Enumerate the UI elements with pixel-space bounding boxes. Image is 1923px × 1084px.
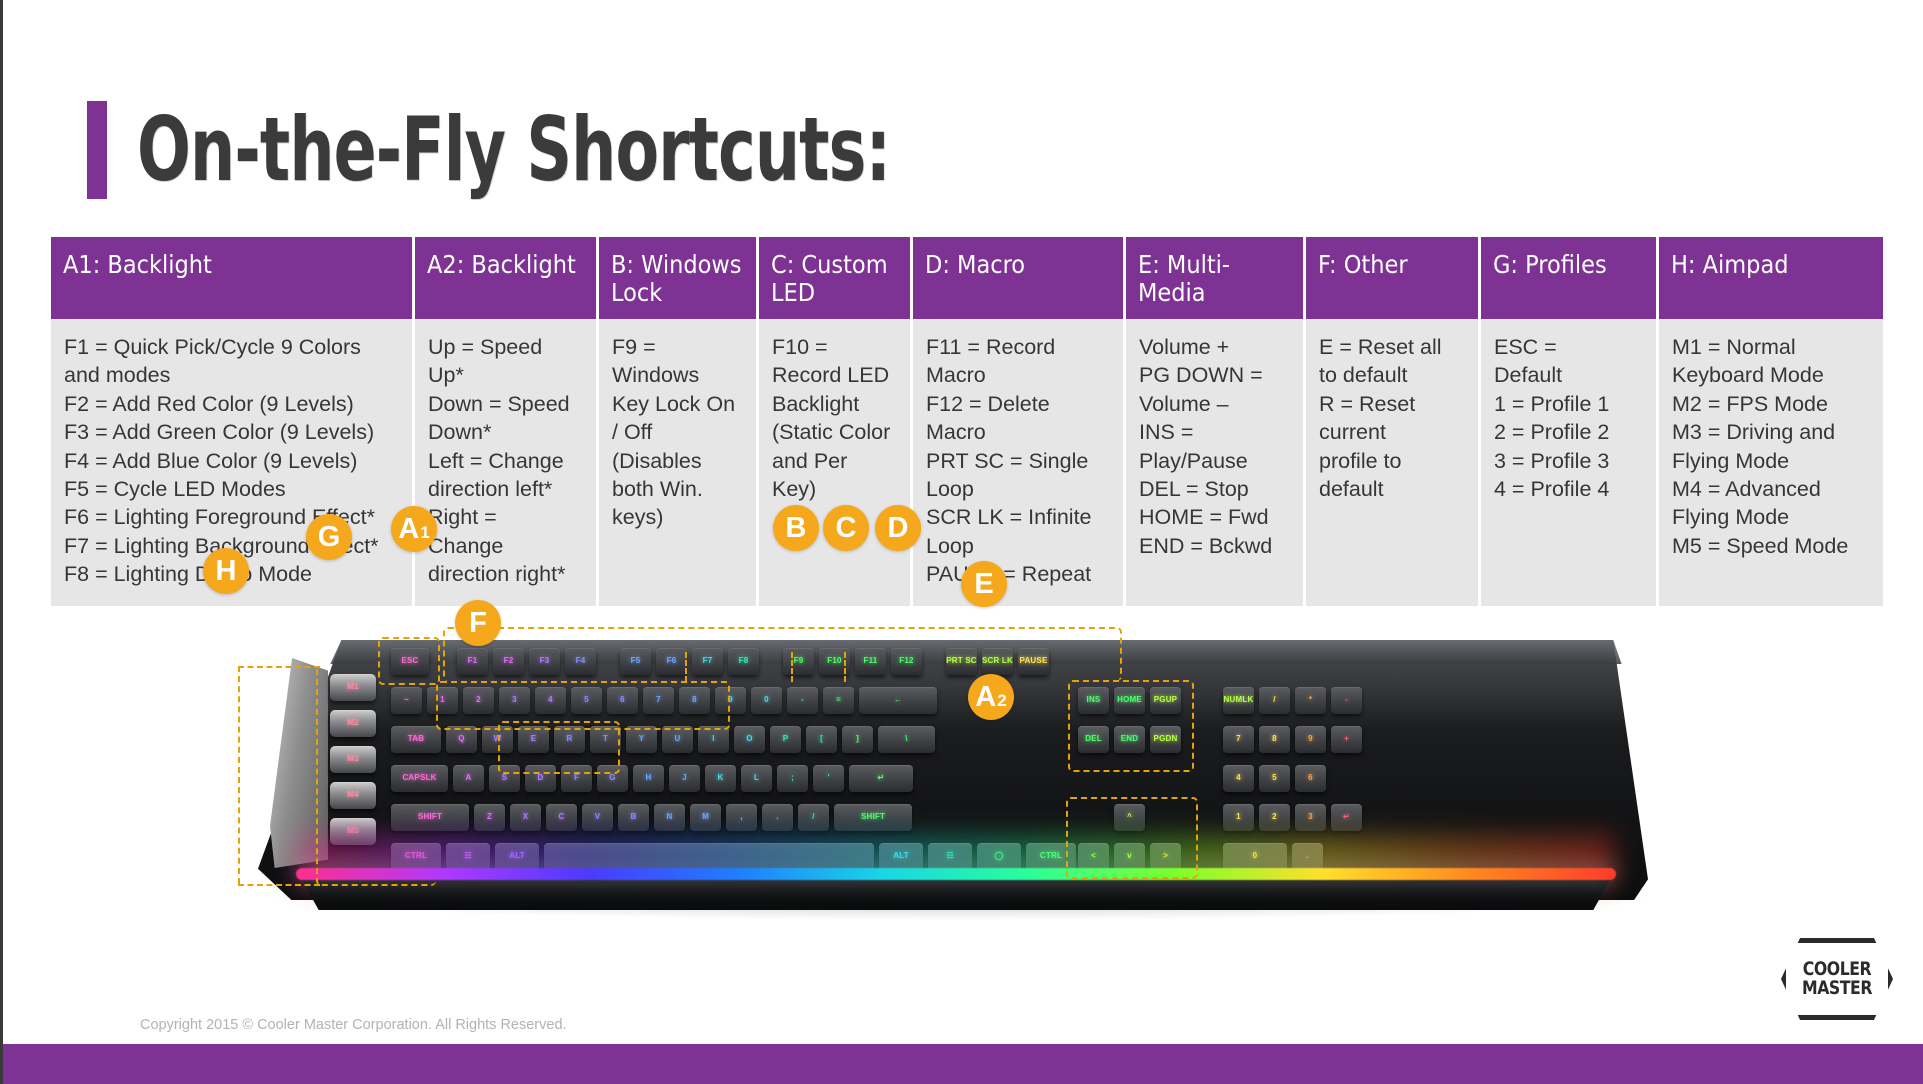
page-title: On-the-Fly Shortcuts: [137,98,890,201]
numpad-row-3: 1 2 3 ↵ [1223,804,1362,831]
badge-f[interactable]: F [455,600,501,646]
table-cell-line: (Disables [612,447,743,475]
key-g[interactable]: G [597,765,628,792]
key-f[interactable]: F [561,765,592,792]
table-cell-line: current [1319,418,1465,446]
logo-line-2: MASTER [1802,979,1872,998]
key-v[interactable]: V [582,804,613,831]
table-cell-line: M4 = Advanced [1672,475,1870,503]
table-cell-line: F10 = [772,333,897,361]
table-cell-line: and modes [64,361,399,389]
table-cell-line: 4 = Profile 4 [1494,475,1643,503]
callout-line-h [238,666,320,668]
table-header-d: D: Macro [913,237,1126,319]
key-f11[interactable]: F11 [855,648,886,675]
key-pgdn[interactable]: PGDN [1150,726,1181,753]
table-cell-line: Up* [428,361,583,389]
qwerty-key-row: TAB Q W E R T Y U I O P [ ] \ [391,726,935,753]
page-title-row: On-the-Fly Shortcuts: [87,98,1078,201]
key-f1[interactable]: F1 [457,648,488,675]
badge-h-label: H [216,548,237,594]
key-left-shift[interactable]: SHIFT [391,804,469,831]
badge-d[interactable]: D [875,505,921,551]
table-cell-line: F4 = Add Blue Color (9 Levels) [64,447,399,475]
badge-a2-sub: 2 [997,678,1006,724]
key-n[interactable]: N [654,804,685,831]
callout-line-b [685,652,687,682]
table-cell-line: Default [1494,361,1643,389]
number-key-row: ~ 1 2 3 4 5 6 7 8 9 0 - = ← [391,687,937,714]
badge-e-label: E [974,561,993,607]
table-cell-line: SCR LK = Infinite [926,503,1110,531]
table-body-row: F1 = Quick Pick/Cycle 9 Colorsand modesF… [51,319,1883,606]
table-header-a1: A1: Backlight [51,237,415,319]
key-4[interactable]: 4 [535,687,566,714]
key-np-minus[interactable]: - [1331,687,1362,714]
key-quote[interactable]: ' [813,765,844,792]
key-q[interactable]: Q [446,726,477,753]
badge-a2-label: A [975,674,996,720]
table-cell-line: F5 = Cycle LED Modes [64,475,399,503]
key-lbracket[interactable]: [ [806,726,837,753]
key-f5[interactable]: F5 [620,648,651,675]
table-cell-line: END = Bckwd [1139,532,1290,560]
table-cell-line: direction left* [428,475,583,503]
table-cell-line: default [1319,475,1465,503]
key-7[interactable]: 7 [643,687,674,714]
nav-cluster-row-1: INS HOME PGUP [1078,687,1181,714]
key-semicolon[interactable]: ; [777,765,808,792]
table-cell-line: F11 = Record [926,333,1110,361]
key-np-5[interactable]: 5 [1259,765,1290,792]
key-b[interactable]: B [618,804,649,831]
key-np-2[interactable]: 2 [1259,804,1290,831]
key-m2[interactable]: M2 [330,710,376,737]
key-np-9[interactable]: 9 [1295,726,1326,753]
key-arrow-up[interactable]: ^ [1114,804,1145,831]
table-cell-line: Right = [428,503,583,531]
key-f12[interactable]: F12 [891,648,922,675]
callout-line-h-bottom [238,884,320,886]
table-cell-line: PAUSE = Repeat [926,560,1110,588]
key-home[interactable]: HOME [1114,687,1145,714]
badge-a1-label: A [398,506,419,552]
callout-line-c [791,652,793,682]
key-backslash[interactable]: \ [878,726,935,753]
callout-line-d [844,652,846,682]
key-esc[interactable]: ESC [391,648,429,675]
key-period[interactable]: . [762,804,793,831]
table-cell-line: profile to [1319,447,1465,475]
table-cell-line: 3 = Profile 3 [1494,447,1643,475]
table-cell-line: 1 = Profile 1 [1494,390,1643,418]
table-cell-line: Left = Change [428,447,583,475]
table-cell-line: F9 = [612,333,743,361]
key-right-shift[interactable]: SHIFT [834,804,912,831]
key-f9[interactable]: F9 [783,648,814,675]
function-key-row: ESC F1 F2 F3 F4 F5 F6 F7 F8 F9 F10 F11 F… [391,648,1049,675]
table-cell-line: to default [1319,361,1465,389]
table-cell-line: F12 = Delete [926,390,1110,418]
table-cell-c: F10 =Record LEDBacklight(Static Colorand… [759,319,913,606]
key-np-6[interactable]: 6 [1295,765,1326,792]
badge-d-label: D [888,505,909,551]
badge-b[interactable]: B [773,505,819,551]
badge-b-label: B [786,505,807,551]
table-header-b: B: Windows Lock [599,237,759,319]
table-cell-line: Play/Pause [1139,447,1290,475]
nav-cluster-row-2: DEL END PGDN [1078,726,1181,753]
badge-a1-sub: 1 [420,510,429,556]
key-6[interactable]: 6 [607,687,638,714]
badge-g-label: G [318,514,341,560]
key-pause[interactable]: PAUSE [1018,648,1049,675]
table-cell-line: Macro [926,361,1110,389]
table-cell-line: 2 = Profile 2 [1494,418,1643,446]
key-np-multiply[interactable]: * [1295,687,1326,714]
table-cell-line: Loop [926,475,1110,503]
key-l[interactable]: L [741,765,772,792]
table-cell-line: DEL = Stop [1139,475,1290,503]
key-2[interactable]: 2 [463,687,494,714]
key-0[interactable]: 0 [751,687,782,714]
table-cell-line: HOME = Fwd [1139,503,1290,531]
table-cell-line: M1 = Normal [1672,333,1870,361]
key-prt-sc[interactable]: PRT SC [946,648,977,675]
key-ins[interactable]: INS [1078,687,1109,714]
key-r[interactable]: R [554,726,585,753]
key-9[interactable]: 9 [715,687,746,714]
slide-root: On-the-Fly Shortcuts: A1: Backlight A2: … [3,0,1923,1084]
table-cell-line: Down = Speed [428,390,583,418]
table-cell-line: Backlight [772,390,897,418]
table-cell-line: Flying Mode [1672,503,1870,531]
key-f4[interactable]: F4 [565,648,596,675]
table-cell-line: R = Reset [1319,390,1465,418]
key-equals[interactable]: = [823,687,854,714]
table-cell-line: Flying Mode [1672,447,1870,475]
table-header-row: A1: Backlight A2: Backlight B: Windows L… [51,237,1883,319]
key-slash[interactable]: / [798,804,829,831]
badge-e[interactable]: E [961,561,1007,607]
table-cell-b: F9 =WindowsKey Lock On/ Off(Disablesboth… [599,319,759,606]
table-cell-line: direction right* [428,560,583,588]
key-end[interactable]: END [1114,726,1145,753]
key-enter[interactable]: ↵ [849,765,913,792]
key-pgup[interactable]: PGUP [1150,687,1181,714]
badge-c[interactable]: C [823,505,869,551]
key-minus[interactable]: - [787,687,818,714]
key-x[interactable]: X [510,804,541,831]
badge-a1[interactable]: A1 [391,506,437,552]
table-header-g: G: Profiles [1481,237,1659,319]
table-cell-line: M2 = FPS Mode [1672,390,1870,418]
key-tilde[interactable]: ~ [391,687,422,714]
key-y[interactable]: Y [626,726,657,753]
table-cell-line: E = Reset all [1319,333,1465,361]
table-header-a2: A2: Backlight [415,237,599,319]
table-cell-line: F2 = Add Red Color (9 Levels) [64,390,399,418]
shift-key-row: SHIFT Z X C V B N M , . / SHIFT [391,804,912,831]
table-cell-h: M1 = NormalKeyboard ModeM2 = FPS ModeM3 … [1659,319,1883,606]
key-5[interactable]: 5 [571,687,602,714]
table-cell-line: Volume – [1139,390,1290,418]
table-cell-line: F1 = Quick Pick/Cycle 9 Colors [64,333,399,361]
key-d[interactable]: D [525,765,556,792]
key-p[interactable]: P [770,726,801,753]
key-np-3[interactable]: 3 [1295,804,1326,831]
badge-g[interactable]: G [306,514,352,560]
key-np-7[interactable]: 7 [1223,726,1254,753]
table-cell-line: both Win. [612,475,743,503]
table-header-h: H: Aimpad [1659,237,1883,319]
table-cell-line: Windows [612,361,743,389]
key-t[interactable]: T [590,726,621,753]
table-cell-line: / Off [612,418,743,446]
key-u[interactable]: U [662,726,693,753]
key-z[interactable]: Z [474,804,505,831]
key-numlock[interactable]: NUMLK [1223,687,1254,714]
arrow-key-up-row: ^ [1114,804,1145,831]
table-cell-line: Down* [428,418,583,446]
key-m3[interactable]: M3 [330,746,376,773]
table-cell-line: Macro [926,418,1110,446]
table-cell-g: ESC =Default1 = Profile 12 = Profile 23 … [1481,319,1659,606]
key-w[interactable]: W [482,726,513,753]
key-8[interactable]: 8 [679,687,710,714]
table-cell-f: E = Reset allto defaultR = Resetcurrentp… [1306,319,1481,606]
callout-line-h-vert [238,666,240,884]
key-backspace[interactable]: ← [859,687,937,714]
key-m1[interactable]: M1 [330,674,376,701]
table-cell-line: INS = [1139,418,1290,446]
table-header-f: F: Other [1306,237,1481,319]
key-np-1[interactable]: 1 [1223,804,1254,831]
key-c[interactable]: C [546,804,577,831]
numpad-row-0: NUMLK / * - [1223,687,1362,714]
key-f2[interactable]: F2 [493,648,524,675]
table-cell-line: keys) [612,503,743,531]
copyright-text: Copyright 2015 © Cooler Master Corporati… [140,1017,567,1033]
badge-h[interactable]: H [203,548,249,594]
key-scr-lk[interactable]: SCR LK [982,648,1013,675]
key-capslock[interactable]: CAPSLK [391,765,448,792]
key-rbracket[interactable]: ] [842,726,873,753]
table-cell-line: PG DOWN = [1139,361,1290,389]
key-np-8[interactable]: 8 [1259,726,1290,753]
key-tab[interactable]: TAB [391,726,441,753]
table-cell-line: Key Lock On [612,390,743,418]
key-f8[interactable]: F8 [728,648,759,675]
key-s[interactable]: S [489,765,520,792]
numpad-row-1: 7 8 9 + [1223,726,1362,753]
logo-text: COOLER MASTER [1785,938,1888,1020]
table-header-e: E: Multi-Media [1126,237,1306,319]
table-cell-line: PRT SC = Single [926,447,1110,475]
macro-key-column: M1 M2 M3 M4 M5 [330,674,376,845]
table-cell-a2: Up = SpeedUp*Down = SpeedDown*Left = Cha… [415,319,599,606]
table-cell-line: Change [428,532,583,560]
key-np-4[interactable]: 4 [1223,765,1254,792]
key-a[interactable]: A [453,765,484,792]
table-cell-line: (Static Color [772,418,897,446]
key-o[interactable]: O [734,726,765,753]
cooler-master-logo: COOLER MASTER [1781,938,1893,1020]
key-m[interactable]: M [690,804,721,831]
table-cell-line: Volume + [1139,333,1290,361]
keyboard-front-panel [278,876,1634,910]
key-del[interactable]: DEL [1078,726,1109,753]
table-cell-d: F11 = RecordMacroF12 = DeleteMacroPRT SC… [913,319,1126,606]
key-h[interactable]: H [633,765,664,792]
title-accent-bar [87,101,107,199]
table-cell-line: F3 = Add Green Color (9 Levels) [64,418,399,446]
key-3[interactable]: 3 [499,687,530,714]
key-np-divide[interactable]: / [1259,687,1290,714]
table-cell-line: M3 = Driving and [1672,418,1870,446]
footer-accent-bar [3,1044,1923,1084]
badge-a2[interactable]: A2 [968,674,1014,720]
key-i[interactable]: I [698,726,729,753]
key-np-enter[interactable]: ↵ [1331,804,1362,831]
key-np-plus[interactable]: + [1331,726,1362,753]
numpad-row-2: 4 5 6 [1223,765,1326,792]
keyboard-rgb-light-bar [296,868,1616,880]
table-header-c: C: Custom LED [759,237,913,319]
key-f6[interactable]: F6 [656,648,687,675]
table-cell-line: ESC = [1494,333,1643,361]
table-cell-line: Up = Speed [428,333,583,361]
table-cell-line: and Per Key) [772,447,897,504]
badge-c-label: C [836,505,857,551]
key-f3[interactable]: F3 [529,648,560,675]
key-comma[interactable]: , [726,804,757,831]
key-m4[interactable]: M4 [330,782,376,809]
table-cell-e: Volume +PG DOWN =Volume –INS =Play/Pause… [1126,319,1306,606]
table-cell-line: Record LED [772,361,897,389]
badge-f-label: F [469,600,487,646]
key-e[interactable]: E [518,726,549,753]
table-cell-line: M5 = Speed Mode [1672,532,1870,560]
table-cell-line: Loop [926,532,1110,560]
key-j[interactable]: J [669,765,700,792]
key-k[interactable]: K [705,765,736,792]
table-cell-line: Keyboard Mode [1672,361,1870,389]
home-key-row: CAPSLK A S D F G H J K L ; ' ↵ [391,765,913,792]
key-1[interactable]: 1 [427,687,458,714]
key-f7[interactable]: F7 [692,648,723,675]
